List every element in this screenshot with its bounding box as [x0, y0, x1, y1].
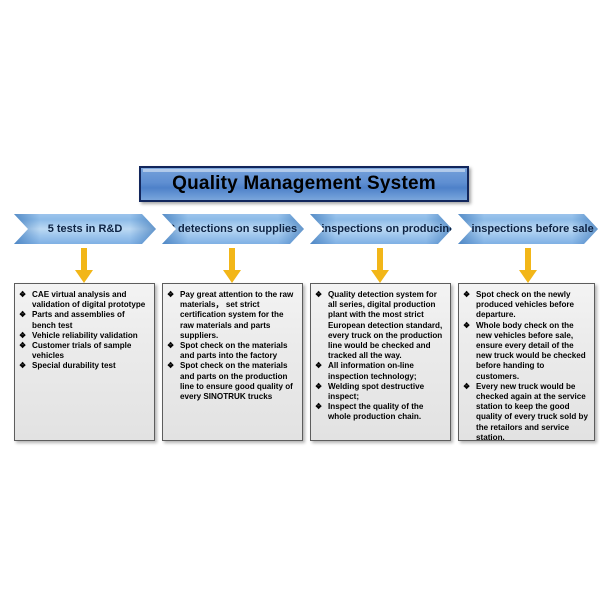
arrow-head — [371, 270, 389, 283]
down-arrow-icon-2 — [222, 248, 242, 284]
arrow-shaft — [377, 248, 383, 271]
diamond-bullet-icon: ❖ — [19, 361, 26, 371]
banner-right-shade-icon — [130, 214, 156, 244]
stage-content-box-2: ❖Pay great attention to the raw material… — [162, 283, 303, 441]
list-item-text: Parts and assemblies of bench test — [32, 310, 125, 329]
list-item: ❖Customer trials of sample vehicles — [19, 341, 149, 361]
down-arrow-icon-4 — [518, 248, 538, 284]
list-item-text: Spot check on the materials and parts in… — [180, 341, 288, 360]
diamond-bullet-icon: ❖ — [463, 290, 470, 300]
diamond-bullet-icon: ❖ — [315, 361, 322, 371]
diamond-bullet-icon: ❖ — [315, 402, 322, 412]
stage-banner-3[interactable]: 27 inspections on producing — [310, 214, 452, 244]
list-item: ❖Whole body check on the new vehicles be… — [463, 321, 589, 382]
list-item-text: Vehicle reliability validation — [32, 331, 138, 340]
bullet-list-3: ❖Quality detection system for all series… — [315, 290, 445, 423]
diamond-bullet-icon: ❖ — [19, 310, 26, 320]
list-item: ❖Spot check on the materials and parts o… — [167, 361, 297, 402]
stage-banner-2[interactable]: 3 detections on supplies — [162, 214, 304, 244]
stage-banner-label-1: 5 tests in R&D — [48, 223, 123, 235]
stage-banner-4[interactable]: 3 inspections before sale — [458, 214, 598, 244]
down-arrow-icon-1 — [74, 248, 94, 284]
list-item: ❖All information on-line inspection tech… — [315, 361, 445, 381]
diamond-bullet-icon: ❖ — [315, 382, 322, 392]
list-item: ❖CAE virtual analysis and validation of … — [19, 290, 149, 310]
list-item-text: Spot check on the newly produced vehicle… — [476, 290, 574, 319]
list-item: ❖Pay great attention to the raw material… — [167, 290, 297, 341]
stage-banner-1[interactable]: 5 tests in R&D — [14, 214, 156, 244]
stage-banner-label-2: 3 detections on supplies — [169, 223, 297, 235]
banner-left-shade-icon — [14, 214, 40, 244]
arrow-head — [519, 270, 537, 283]
list-item-text: Inspect the quality of the whole product… — [328, 402, 423, 421]
diamond-bullet-icon: ❖ — [463, 382, 470, 392]
diamond-bullet-icon: ❖ — [315, 290, 322, 300]
bullet-list-2: ❖Pay great attention to the raw material… — [167, 290, 297, 402]
list-item-text: Whole body check on the new vehicles bef… — [476, 321, 586, 381]
diagram-title-box: Quality Management System — [139, 166, 469, 202]
bullet-list-1: ❖CAE virtual analysis and validation of … — [19, 290, 149, 372]
list-item: ❖Vehicle reliability validation — [19, 331, 149, 341]
list-item-text: Pay great attention to the raw materials… — [180, 290, 293, 340]
stage-content-box-1: ❖CAE virtual analysis and validation of … — [14, 283, 155, 441]
diamond-bullet-icon: ❖ — [167, 361, 174, 371]
list-item: ❖Welding spot destructive inspect; — [315, 382, 445, 402]
arrow-head — [223, 270, 241, 283]
list-item: ❖Spot check on the materials and parts i… — [167, 341, 297, 361]
list-item: ❖Inspect the quality of the whole produc… — [315, 402, 445, 422]
stage-banner-label-3: 27 inspections on producing — [306, 223, 456, 235]
list-item-text: Quality detection system for all series,… — [328, 290, 442, 360]
diamond-bullet-icon: ❖ — [463, 321, 470, 331]
arrow-shaft — [81, 248, 87, 271]
stage-content-box-4: ❖Spot check on the newly produced vehicl… — [458, 283, 595, 441]
arrow-head — [75, 270, 93, 283]
diamond-bullet-icon: ❖ — [19, 290, 26, 300]
arrow-shaft — [229, 248, 235, 271]
list-item: ❖Special durability test — [19, 361, 149, 371]
list-item-text: Every new truck would be checked again a… — [476, 382, 588, 441]
stage-banner-label-4: 3 inspections before sale — [462, 223, 593, 235]
list-item: ❖Spot check on the newly produced vehicl… — [463, 290, 589, 321]
bullet-list-4: ❖Spot check on the newly produced vehicl… — [463, 290, 589, 441]
list-item-text: Special durability test — [32, 361, 116, 370]
diamond-bullet-icon: ❖ — [19, 331, 26, 341]
down-arrow-icon-3 — [370, 248, 390, 284]
page-title: Quality Management System — [172, 173, 436, 195]
list-item: ❖Every new truck would be checked again … — [463, 382, 589, 441]
list-item: ❖Parts and assemblies of bench test — [19, 310, 149, 330]
list-item-text: Welding spot destructive inspect; — [328, 382, 424, 401]
list-item-text: Customer trials of sample vehicles — [32, 341, 131, 360]
list-item-text: All information on-line inspection techn… — [328, 361, 417, 380]
stage-content-box-3: ❖Quality detection system for all series… — [310, 283, 451, 441]
list-item-text: Spot check on the materials and parts on… — [180, 361, 293, 401]
list-item-text: CAE virtual analysis and validation of d… — [32, 290, 145, 309]
arrow-shaft — [525, 248, 531, 271]
diamond-bullet-icon: ❖ — [19, 341, 26, 351]
diamond-bullet-icon: ❖ — [167, 290, 174, 300]
diamond-bullet-icon: ❖ — [167, 341, 174, 351]
list-item: ❖Quality detection system for all series… — [315, 290, 445, 361]
diagram-canvas: Quality Management System 5 tests in R&D… — [0, 0, 600, 600]
